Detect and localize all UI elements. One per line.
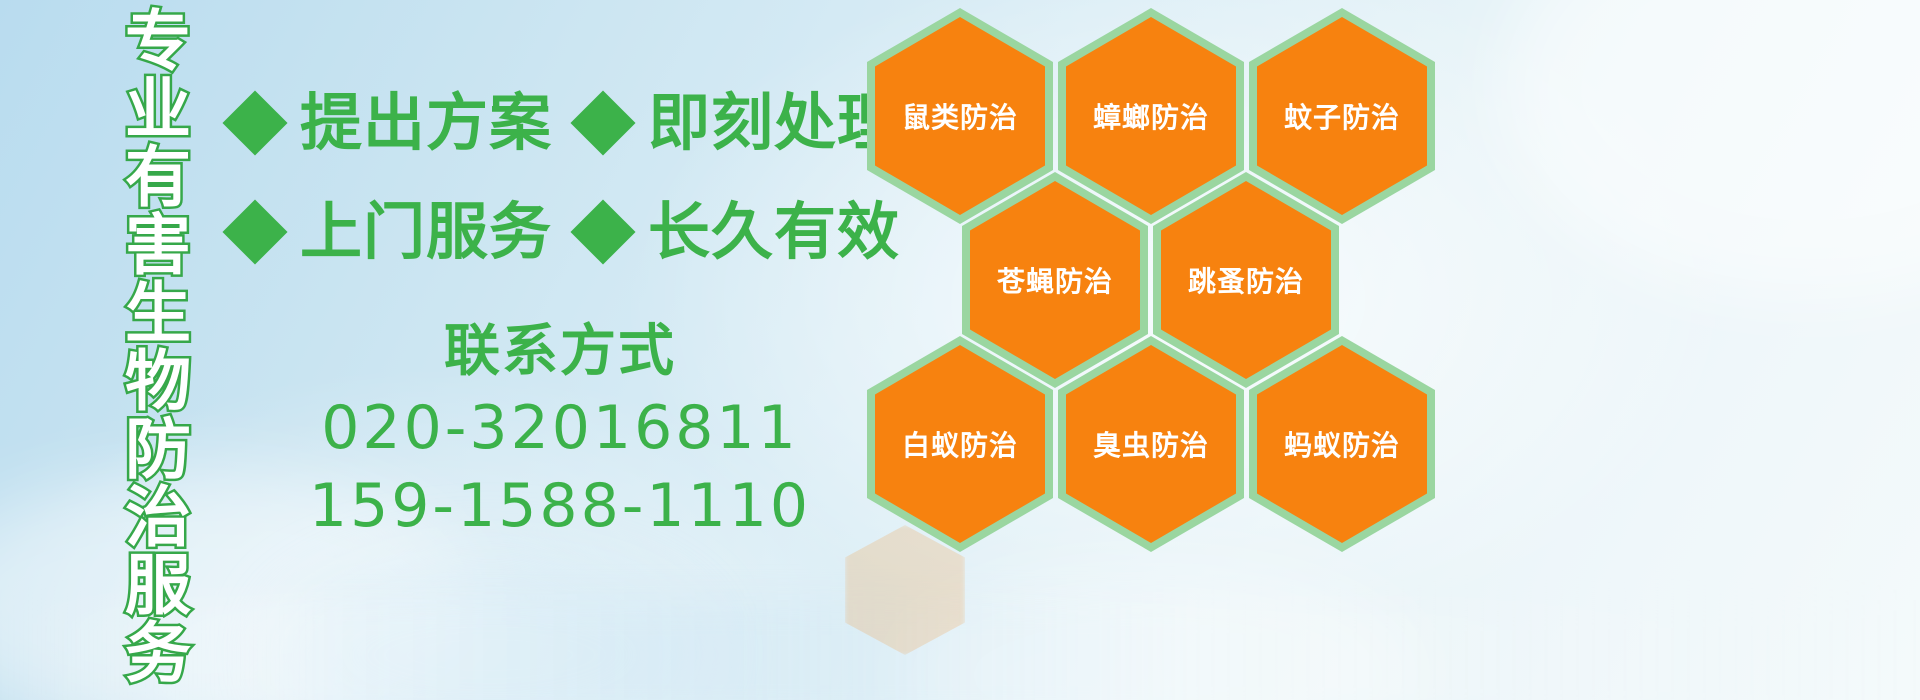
service-label: 跳蚤防治 — [1188, 260, 1304, 300]
vertical-headline-char: 物 — [125, 348, 191, 416]
service-hexagon-cluster: 鼠类防治 蟑螂防治 蚊子防治 苍蝇防治 跳蚤防治 白蚁防治 — [862, 0, 1462, 560]
contact-block: 联系方式 020-32016811 159-1588-1110 — [300, 315, 820, 545]
phone-number-landline[interactable]: 020-32016811 — [300, 389, 820, 467]
hex-inner: 臭虫防治 — [1066, 345, 1236, 543]
hex-inner: 蚊子防治 — [1257, 17, 1427, 215]
feature-label: 提出方案 — [300, 88, 552, 158]
feature-row-2: 上门服务 长久有效 — [232, 197, 900, 267]
vertical-headline: 专 业 有 害 生 物 防 治 服 务 — [104, 8, 212, 698]
feature-label: 上门服务 — [300, 197, 552, 267]
hex-inner: 跳蚤防治 — [1161, 181, 1331, 379]
hex-inner: 白蚁防治 — [875, 345, 1045, 543]
service-label: 蚊子防治 — [1284, 96, 1400, 136]
phone-number-mobile[interactable]: 159-1588-1110 — [300, 467, 820, 545]
feature-item-long-lasting: 长久有效 — [580, 197, 900, 267]
diamond-bullet-icon — [570, 90, 635, 155]
diamond-bullet-icon — [222, 90, 287, 155]
hex-inner: 苍蝇防治 — [970, 181, 1140, 379]
vertical-headline-char: 有 — [125, 144, 191, 212]
service-label: 苍蝇防治 — [997, 260, 1113, 300]
vertical-headline-char: 服 — [125, 552, 191, 620]
contact-heading: 联系方式 — [300, 315, 820, 389]
service-label: 鼠类防治 — [902, 96, 1018, 136]
vertical-headline-char: 专 — [125, 8, 191, 76]
vertical-headline-char: 业 — [125, 76, 191, 144]
feature-item-onsite-service: 上门服务 — [232, 197, 552, 267]
vertical-headline-char: 生 — [125, 280, 191, 348]
service-label: 白蚁防治 — [902, 424, 1018, 464]
vertical-headline-char: 害 — [125, 212, 191, 280]
pest-control-banner: 专 业 有 害 生 物 防 治 服 务 提出方案 即刻处理 上门服务 长久有效 — [0, 0, 1920, 700]
hex-inner: 蚂蚁防治 — [1257, 345, 1427, 543]
service-label: 蟑螂防治 — [1093, 96, 1209, 136]
vertical-headline-char: 务 — [125, 620, 191, 688]
hex-inner: 鼠类防治 — [875, 17, 1045, 215]
diamond-bullet-icon — [222, 199, 287, 264]
diamond-bullet-icon — [570, 199, 635, 264]
feature-item-propose-plan: 提出方案 — [232, 88, 552, 158]
feature-item-immediate-handling: 即刻处理 — [580, 88, 900, 158]
service-label: 臭虫防治 — [1093, 424, 1209, 464]
feature-row-1: 提出方案 即刻处理 — [232, 88, 900, 158]
background-blob — [1500, 0, 1920, 300]
service-label: 蚂蚁防治 — [1284, 424, 1400, 464]
hex-inner: 蟑螂防治 — [1066, 17, 1236, 215]
vertical-headline-char: 防 — [125, 416, 191, 484]
vertical-headline-char: 治 — [125, 484, 191, 552]
